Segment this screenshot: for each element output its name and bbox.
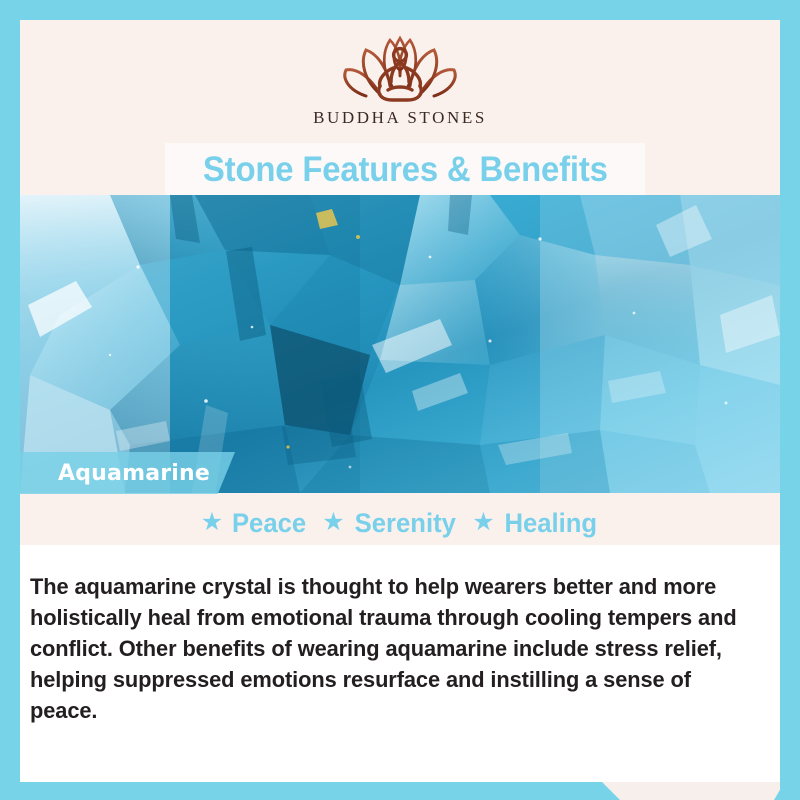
lotus-meditation-icon <box>336 28 464 106</box>
description-text: The aquamarine crystal is thought to hel… <box>30 571 750 726</box>
keyword-peace: ★ Peace <box>201 510 309 537</box>
frame-border-bottom <box>0 780 800 800</box>
page-title: Stone Features & Benefits <box>203 152 608 187</box>
frame-border-left <box>0 0 20 800</box>
brand-logo: BUDDHA STONES <box>20 20 780 142</box>
title-banner: Stone Features & Benefits <box>165 143 645 195</box>
stone-name: Aquamarine <box>58 461 210 486</box>
keyword-serenity: ★ Serenity <box>322 510 458 537</box>
page-content-area: BUDDHA STONES Stone Features & Benefits <box>20 20 780 782</box>
keyword-label: Peace <box>232 510 306 537</box>
infographic-page: BUDDHA STONES Stone Features & Benefits <box>0 0 800 800</box>
keyword-label: Healing <box>504 510 597 537</box>
keywords-row: ★ Peace ★ Serenity ★ Healing <box>20 501 780 545</box>
footer-spacer <box>20 749 780 782</box>
brand-wordmark: BUDDHA STONES <box>313 108 487 128</box>
description-panel: The aquamarine crystal is thought to hel… <box>20 545 780 749</box>
star-icon: ★ <box>322 510 344 535</box>
keyword-healing: ★ Healing <box>472 510 599 537</box>
keyword-label: Serenity <box>354 510 455 537</box>
frame-border-top <box>0 0 800 20</box>
frame-border-right <box>780 0 800 800</box>
star-icon: ★ <box>201 510 223 535</box>
aquamarine-crystal-photo <box>20 195 780 493</box>
star-icon: ★ <box>472 510 494 535</box>
stone-name-banner: Aquamarine <box>20 452 235 494</box>
